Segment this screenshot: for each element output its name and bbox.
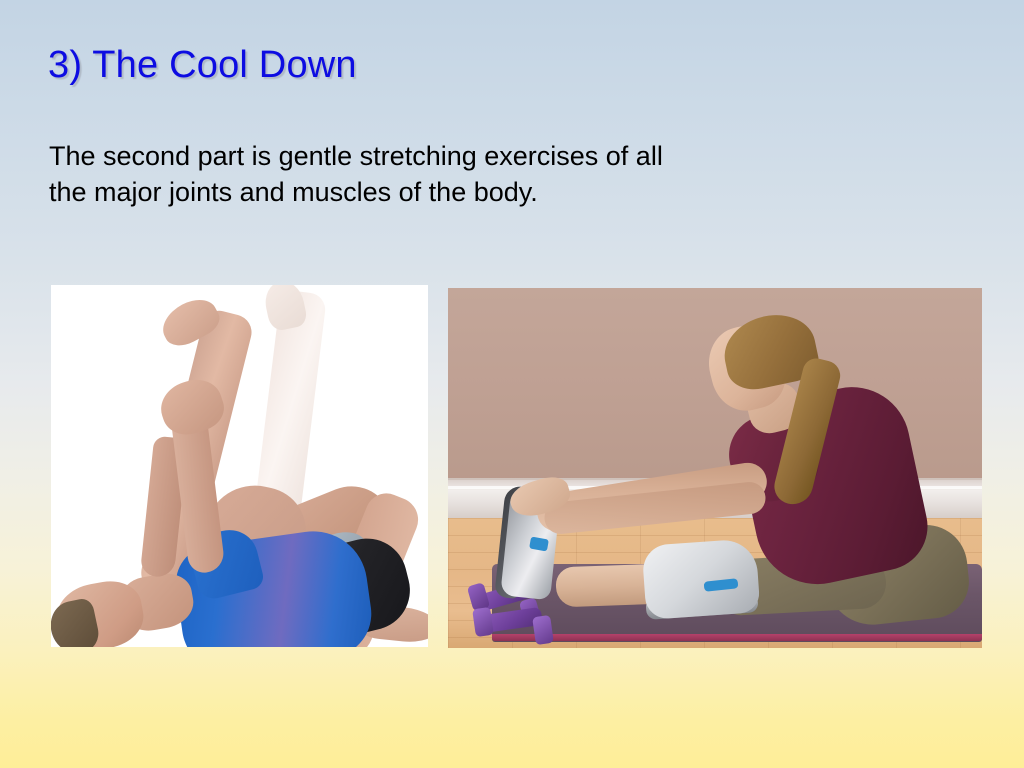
yoga-mat-edge: [492, 634, 982, 641]
bent-leg-shoe: [642, 538, 761, 620]
figure-man-supine-stretch: [51, 285, 428, 647]
body-line-2: the major joints and muscles of the body…: [49, 174, 879, 210]
photo-knee-to-chest-stretch: [51, 285, 428, 647]
dumbbell-lower-head-right: [532, 615, 554, 645]
page-title: 3) The Cool Down: [48, 44, 357, 87]
dumbbell-lower-head-left: [472, 607, 494, 637]
body-paragraph: The second part is gentle stretching exe…: [49, 138, 879, 210]
body-line-1: The second part is gentle stretching exe…: [49, 138, 879, 174]
photo-seated-forward-stretch: [448, 288, 982, 648]
